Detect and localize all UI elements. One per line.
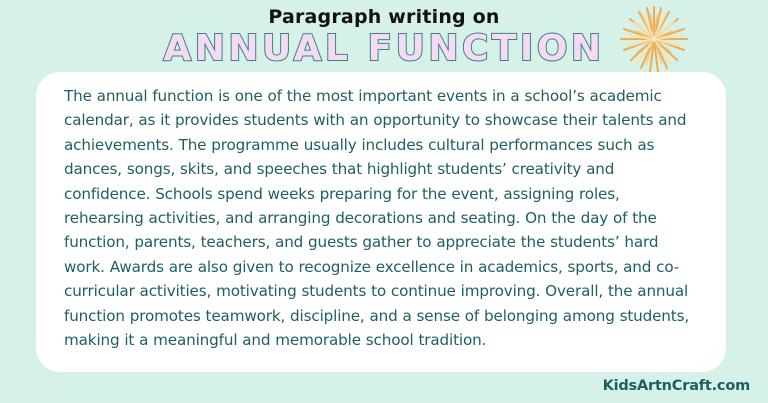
site-brand-watermark: KidsArtnCraft.com bbox=[603, 378, 750, 394]
poster-header: Paragraph writing on ANNUAL FUNCTION bbox=[0, 0, 768, 72]
page-kicker: Paragraph writing on bbox=[0, 5, 768, 29]
content-card: The annual function is one of the most i… bbox=[36, 72, 726, 372]
page-title: ANNUAL FUNCTION bbox=[0, 29, 768, 69]
paragraph-body: The annual function is one of the most i… bbox=[64, 84, 700, 352]
poster-canvas: Paragraph writing on ANNUAL FUNCTION bbox=[0, 0, 768, 403]
